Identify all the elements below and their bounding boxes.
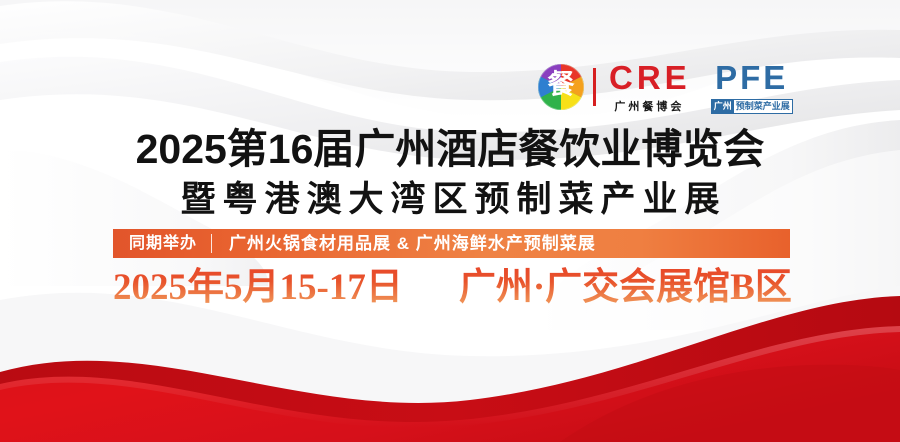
cre-subtitle: 广州餐博会 bbox=[614, 98, 684, 114]
event-date: 2025年5月15-17日 bbox=[113, 266, 403, 310]
poster-title-sub: 暨粤港澳大湾区预制菜产业展 bbox=[0, 180, 900, 220]
date-venue-row: 2025年5月15-17日 广州·广交会展馆B区 bbox=[113, 266, 803, 310]
pfe-badge-name: 预制菜产业展 bbox=[734, 100, 792, 113]
rainbow-circle-canteen-emblem-icon: 餐 bbox=[536, 62, 586, 112]
pfe-badge-city: 广州 bbox=[712, 100, 734, 113]
banner-events-label: 广州火锅食材用品展 & 广州海鲜水产预制菜展 bbox=[212, 229, 596, 258]
emblem-character: 餐 bbox=[548, 70, 576, 100]
logo-row: 餐 CRE 广州餐博会 PFE 广州 预制菜产业展 bbox=[536, 58, 836, 116]
cre-acronym: CRE bbox=[609, 61, 691, 94]
pfe-acronym: PFE bbox=[715, 61, 788, 94]
banner-tag-label: 同期举办 bbox=[113, 229, 211, 258]
pfe-logo: PFE 广州 预制菜产业展 bbox=[711, 61, 793, 114]
pfe-badge: 广州 预制菜产业展 bbox=[711, 99, 793, 114]
event-poster: 餐 CRE 广州餐博会 PFE 广州 预制菜产业展 2025第16届广州酒店餐饮… bbox=[0, 0, 900, 442]
event-venue: 广州·广交会展馆B区 bbox=[459, 266, 792, 310]
logo-divider bbox=[593, 68, 596, 106]
poster-title-main: 2025第16届广州酒店餐饮业博览会 bbox=[0, 126, 900, 172]
cre-logo: CRE 广州餐博会 bbox=[605, 61, 691, 114]
concurrent-events-banner: 同期举办 广州火锅食材用品展 & 广州海鲜水产预制菜展 bbox=[113, 229, 790, 258]
